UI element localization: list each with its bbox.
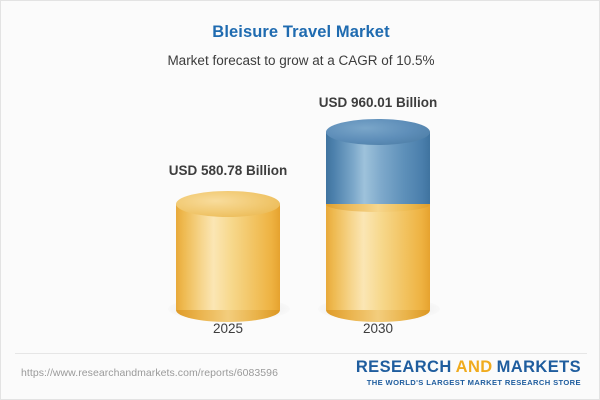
cylinder-2030-segment-base[interactable] [326,204,430,310]
logo-word-research: RESEARCH [356,358,452,376]
report-url[interactable]: https://www.researchandmarkets.com/repor… [21,367,278,379]
research-and-markets-logo[interactable]: RESEARCHANDMARKETS THE WORLD'S LARGEST M… [356,359,581,387]
data-label-2025: USD 580.78 Billion [148,163,308,178]
cylinder-2025-body [176,204,280,310]
logo-word-and: AND [456,358,493,376]
cylinder-2025-top-cap [176,191,280,217]
data-label-2030: USD 960.01 Billion [298,95,458,110]
chart-plot-area: USD 580.78 Billion 2025 USD 960.01 Billi… [1,1,600,353]
category-label-2025: 2025 [176,321,280,336]
cylinder-2030-top-cap [326,119,430,145]
logo-tagline: THE WORLD'S LARGEST MARKET RESEARCH STOR… [356,378,581,387]
footer-divider [15,353,587,354]
chart-card: Bleisure Travel Market Market forecast t… [0,0,600,400]
category-label-2030: 2030 [326,321,430,336]
logo-word-markets: MARKETS [497,358,581,376]
logo-wordmark: RESEARCHANDMARKETS [356,359,581,376]
